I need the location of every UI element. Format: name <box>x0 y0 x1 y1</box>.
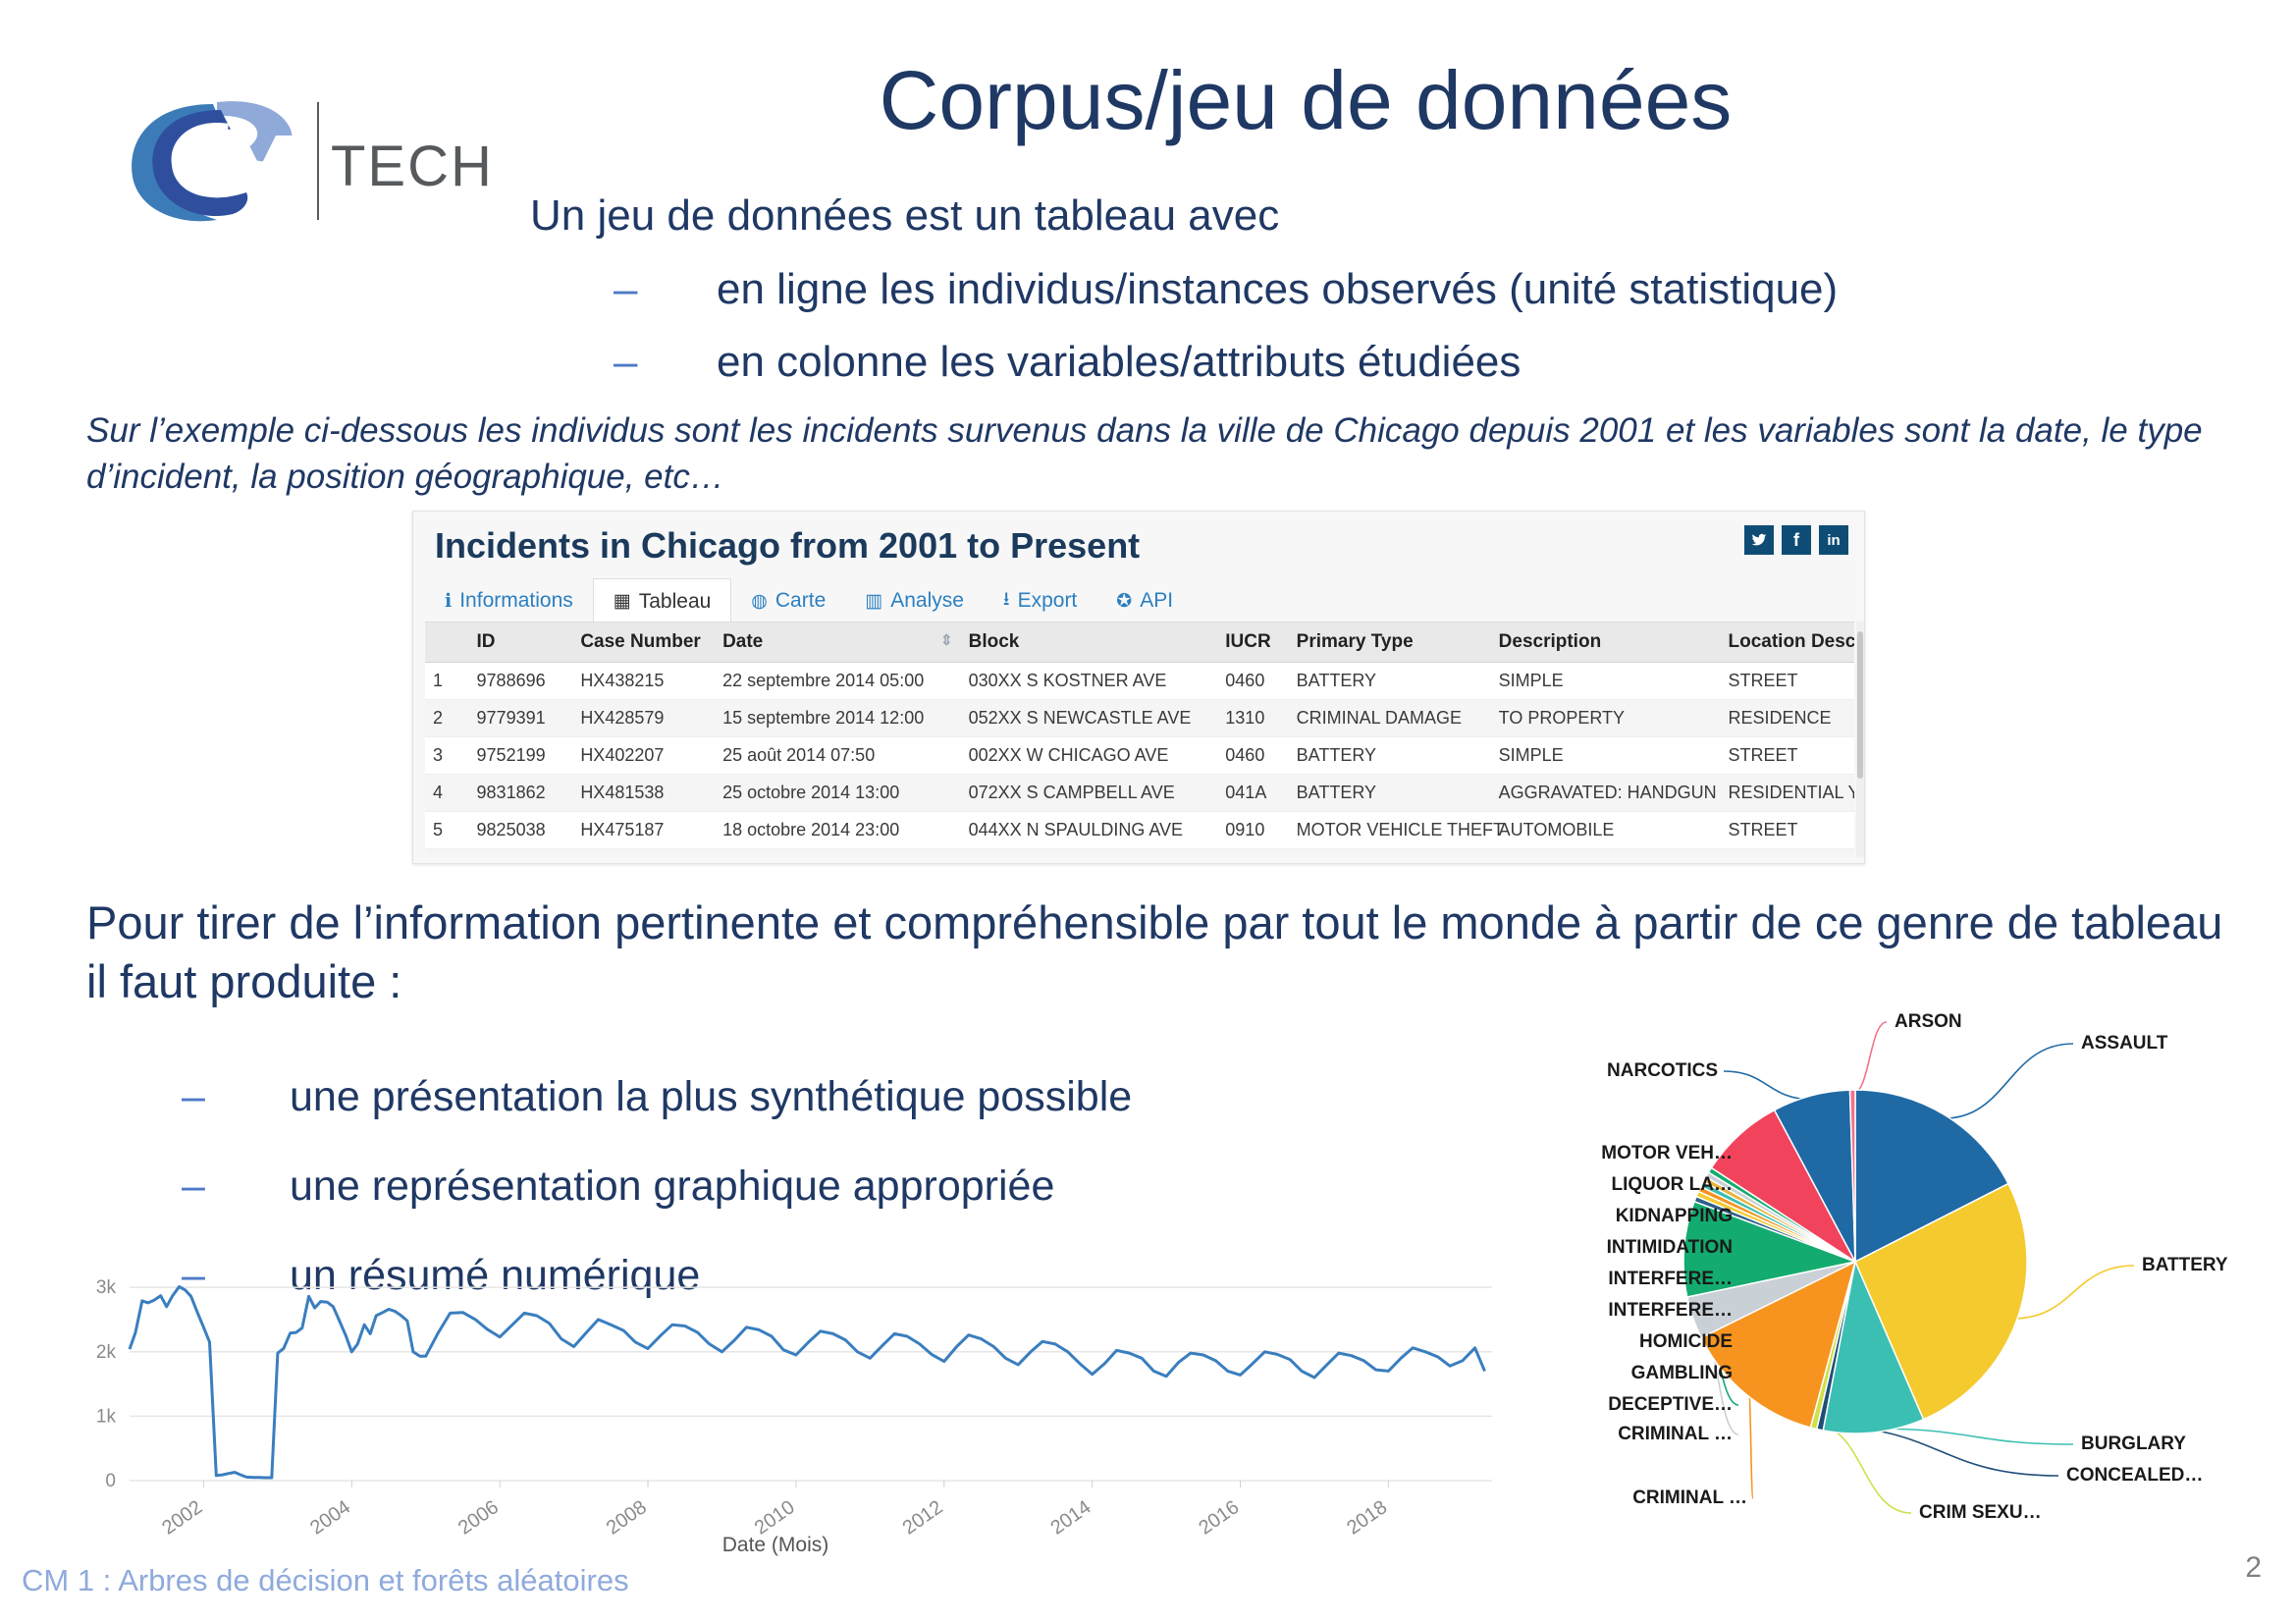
table-column-header[interactable]: Case Number <box>572 622 715 663</box>
table-cell: AGGRAVATED: HANDGUN <box>1491 775 1721 812</box>
incidents-line-chart: 01k2k3k200220042006200820102012201420162… <box>59 1257 1551 1571</box>
list-item: – en colonne les variables/attributs étu… <box>614 338 1838 387</box>
dataset-title: Incidents in Chicago from 2001 to Presen… <box>435 525 1140 567</box>
table-cell: 15 septembre 2014 12:00 <box>715 700 961 737</box>
download-icon: ⭳ <box>1003 585 1010 617</box>
page-title: Corpus/jeu de données <box>569 57 2042 143</box>
bullet-text: une présentation la plus synthétique pos… <box>290 1073 1132 1121</box>
logo-divider <box>317 102 319 220</box>
linkedin-icon[interactable]: in <box>1819 525 1848 555</box>
primary-type-pie-chart: ASSAULTBATTERYBURGLARYCONCEALED…CRIM SEX… <box>1531 1011 2287 1561</box>
table-cell: 4 <box>425 775 469 812</box>
table-cell: 041A <box>1217 775 1288 812</box>
table-cell: 22 septembre 2014 05:00 <box>715 663 961 700</box>
table-body: 19788696HX43821522 septembre 2014 05:000… <box>425 663 1854 858</box>
gear-icon: ✪ <box>1116 590 1132 613</box>
line-series <box>130 1287 1485 1479</box>
dataset-table-container[interactable]: IDCase NumberDate⇕BlockIUCRPrimary TypeD… <box>425 622 1854 857</box>
pie-slice-label: CRIM SEXU… <box>1919 1502 2042 1524</box>
info-icon: ℹ <box>445 590 452 613</box>
pie-slice-label: GAMBLING <box>1631 1363 1733 1384</box>
table-cell: HX428579 <box>572 700 715 737</box>
bullet-dash-icon: – <box>614 265 717 314</box>
globe-icon: ◍ <box>751 590 768 613</box>
pie-slice-label: ASSAULT <box>2081 1033 2167 1055</box>
table-cell: CRIMINAL DAMAGE <box>1289 700 1491 737</box>
social-share-group: f in <box>1744 525 1848 555</box>
page-number: 2 <box>2245 1551 2262 1585</box>
logo-tech-text: TECH <box>331 134 494 199</box>
bullet-text: une représentation graphique appropriée <box>290 1163 1054 1211</box>
pie-leader-line <box>1748 1391 1753 1498</box>
example-note: Sur l’exemple ci-dessous les individus s… <box>86 407 2226 501</box>
table-column-header[interactable] <box>425 622 469 663</box>
pie-leader-line <box>1943 1044 2073 1118</box>
table-cell: 9779391 <box>469 700 573 737</box>
y-axis-tick-label: 1k <box>96 1406 117 1427</box>
pie-slice-label: CRIMINAL … <box>1632 1488 1747 1509</box>
table-column-header[interactable]: ID <box>469 622 573 663</box>
pie-leader-line <box>1874 1429 2073 1444</box>
table-cell: 020XX W BIRCHWOOD AVE <box>961 849 1218 858</box>
pie-slice-label: ARSON <box>1895 1011 1962 1033</box>
pie-leader-line <box>1815 1425 1912 1513</box>
table-cell: 2 <box>425 700 469 737</box>
table-column-header[interactable]: Block <box>961 622 1218 663</box>
table-cell: 052XX S NEWCASTLE AVE <box>961 700 1218 737</box>
intro-lead: Un jeu de données est un tableau avec <box>530 194 1279 238</box>
line-chart-xaxis-label: Date (Mois) <box>59 1534 1492 1557</box>
table-cell: HX481538 <box>572 775 715 812</box>
table-cell: SIMPLE <box>1491 663 1721 700</box>
twitter-icon[interactable] <box>1744 525 1774 555</box>
slide-root: TECH Corpus/jeu de données Un jeu de don… <box>0 0 2296 1623</box>
pie-slice-label: DECEPTIVE… <box>1608 1394 1733 1416</box>
tab-label: API <box>1140 589 1173 613</box>
pie-slice-label: BURGLARY <box>2081 1434 2186 1455</box>
bar-chart-icon: ▥ <box>865 590 882 613</box>
y-axis-tick-label: 2k <box>96 1342 117 1363</box>
sort-toggle-icon[interactable]: ⇕ <box>940 631 953 649</box>
table-cell: MOTOR VEHICLE THEFT <box>1289 812 1491 849</box>
table-row[interactable]: 19788696HX43821522 septembre 2014 05:000… <box>425 663 1854 700</box>
table-cell: OTHER VEHICLE OFFENSE <box>1491 849 1721 858</box>
table-cell: SIMPLE <box>1491 737 1721 775</box>
table-cell: 9825038 <box>469 812 573 849</box>
pie-slice-label: INTERFERE… <box>1608 1269 1733 1290</box>
table-cell: 1 <box>425 663 469 700</box>
table-cell: 5002 <box>1217 849 1288 858</box>
table-cell: 18 octobre 2014 23:00 <box>715 812 961 849</box>
bullet-text: en ligne les individus/instances observé… <box>717 265 1838 314</box>
table-cell: BATTERY <box>1289 737 1491 775</box>
pie-leader-line <box>1852 1022 1887 1094</box>
pie-slice-label: CRIMINAL … <box>1618 1424 1733 1445</box>
table-cell: 9831862 <box>469 775 573 812</box>
table-cell: RESIDENCE <box>1721 700 1855 737</box>
table-cell: STREET <box>1721 849 1855 858</box>
table-cell: 0460 <box>1217 663 1288 700</box>
table-column-header[interactable]: Date⇕ <box>715 622 961 663</box>
table-cell: 002XX W CHICAGO AVE <box>961 737 1218 775</box>
table-cell: 5 <box>425 812 469 849</box>
pie-slice-label: NARCOTICS <box>1607 1060 1718 1082</box>
table-column-header[interactable]: Description <box>1491 622 1721 663</box>
table-row[interactable]: 39752199HX40220725 août 2014 07:50002XX … <box>425 737 1854 775</box>
table-cell: STREET <box>1721 663 1855 700</box>
tab-label: Export <box>1018 589 1078 613</box>
table-row[interactable]: 59825038HX47518718 octobre 2014 23:00044… <box>425 812 1854 849</box>
tab-label: Tableau <box>639 590 712 614</box>
embedded-dataset-screenshot: Incidents in Chicago from 2001 to Presen… <box>412 511 1865 864</box>
list-item: – en ligne les individus/instances obser… <box>614 265 1838 314</box>
bullet-dash-icon: – <box>182 1163 290 1211</box>
list-item: – une représentation graphique approprié… <box>182 1163 1132 1211</box>
table-cell: RESIDENTIAL YA <box>1721 775 1855 812</box>
table-cell: BATTERY <box>1289 775 1491 812</box>
table-cell: 9788696 <box>469 663 573 700</box>
line-chart-svg: 01k2k3k200220042006200820102012201420162… <box>59 1257 1551 1551</box>
pie-leader-line <box>2013 1266 2134 1319</box>
list-item: – une présentation la plus synthétique p… <box>182 1073 1132 1121</box>
table-cell: 9752199 <box>469 737 573 775</box>
dataset-tab-bar: ℹ Informations ▦ Tableau ◍ Carte ▥ Analy… <box>425 578 1193 623</box>
table-row[interactable]: 69840868HX48948017 octobre 2014 14:00020… <box>425 849 1854 858</box>
tab-api[interactable]: ✪ API <box>1096 578 1193 623</box>
table-cell: STREET <box>1721 812 1855 849</box>
slide-footer: CM 1 : Arbres de décision et forêts aléa… <box>22 1563 629 1598</box>
y-axis-tick-label: 0 <box>105 1471 116 1491</box>
table-cell: 9840868 <box>469 849 573 858</box>
paragraph-produce: Pour tirer de l’information pertinente e… <box>86 893 2246 1011</box>
pie-slice-label: CONCEALED… <box>2066 1465 2203 1487</box>
table-cell: HX402207 <box>572 737 715 775</box>
tab-tableau[interactable]: ▦ Tableau <box>593 578 732 623</box>
table-cell: OTHER OFFENSE <box>1289 849 1491 858</box>
table-cell: AUTOMOBILE <box>1491 812 1721 849</box>
table-cell: 1310 <box>1217 700 1288 737</box>
bullet-text: en colonne les variables/attributs étudi… <box>717 338 1521 387</box>
table-cell: BATTERY <box>1289 663 1491 700</box>
table-cell: TO PROPERTY <box>1491 700 1721 737</box>
table-cell: 0910 <box>1217 812 1288 849</box>
table-cell: 3 <box>425 737 469 775</box>
tab-informations[interactable]: ℹ Informations <box>425 578 593 623</box>
table-cell: 25 octobre 2014 13:00 <box>715 775 961 812</box>
pie-slice-label: INTIMIDATION <box>1607 1237 1733 1259</box>
table-cell: HX438215 <box>572 663 715 700</box>
cy-logo-icon <box>123 96 314 226</box>
table-cell: 030XX S KOSTNER AVE <box>961 663 1218 700</box>
table-row[interactable]: 29779391HX42857915 septembre 2014 12:000… <box>425 700 1854 737</box>
tab-label: Informations <box>459 589 573 613</box>
pie-slice-label: INTERFERE… <box>1608 1300 1733 1322</box>
tab-analyse[interactable]: ▥ Analyse <box>845 578 984 623</box>
bullet-dash-icon: – <box>182 1073 290 1121</box>
bullet-dash-icon: – <box>614 338 717 387</box>
pie-leader-line <box>1724 1071 1812 1100</box>
table-column-header[interactable]: IUCR <box>1217 622 1288 663</box>
table-cell: STREET <box>1721 737 1855 775</box>
table-cell: 17 octobre 2014 14:00 <box>715 849 961 858</box>
dataset-table: IDCase NumberDate⇕BlockIUCRPrimary TypeD… <box>425 622 1854 857</box>
table-column-header[interactable]: Primary Type <box>1289 622 1491 663</box>
pie-slice-label: BATTERY <box>2142 1255 2228 1276</box>
y-axis-tick-label: 3k <box>96 1277 117 1298</box>
table-cell: HX475187 <box>572 812 715 849</box>
pie-slice-label: HOMICIDE <box>1639 1331 1733 1353</box>
table-header-row: IDCase NumberDate⇕BlockIUCRPrimary TypeD… <box>425 622 1854 663</box>
table-cell: 072XX S CAMPBELL AVE <box>961 775 1218 812</box>
table-cell: HX489480 <box>572 849 715 858</box>
tab-label: Analyse <box>890 589 964 613</box>
pie-slice-label: LIQUOR LA… <box>1612 1174 1734 1196</box>
pie-slice-label: KIDNAPPING <box>1616 1206 1733 1227</box>
table-row[interactable]: 49831862HX48153825 octobre 2014 13:00072… <box>425 775 1854 812</box>
table-cell: 044XX N SPAULDING AVE <box>961 812 1218 849</box>
cytech-logo: TECH <box>123 96 437 226</box>
pie-slice-label: MOTOR VEH… <box>1601 1143 1733 1164</box>
table-icon: ▦ <box>614 590 631 613</box>
intro-bullet-list: – en ligne les individus/instances obser… <box>614 265 1838 410</box>
facebook-icon[interactable]: f <box>1782 525 1811 555</box>
table-cell: 6 <box>425 849 469 858</box>
table-column-header[interactable]: Location Descrip <box>1721 622 1855 663</box>
table-cell: 25 août 2014 07:50 <box>715 737 961 775</box>
tab-label: Carte <box>775 589 826 613</box>
table-vertical-scrollbar[interactable] <box>1856 622 1864 857</box>
table-cell: 0460 <box>1217 737 1288 775</box>
tab-carte[interactable]: ◍ Carte <box>731 578 845 623</box>
tab-export[interactable]: ⭳ Export <box>984 578 1096 623</box>
